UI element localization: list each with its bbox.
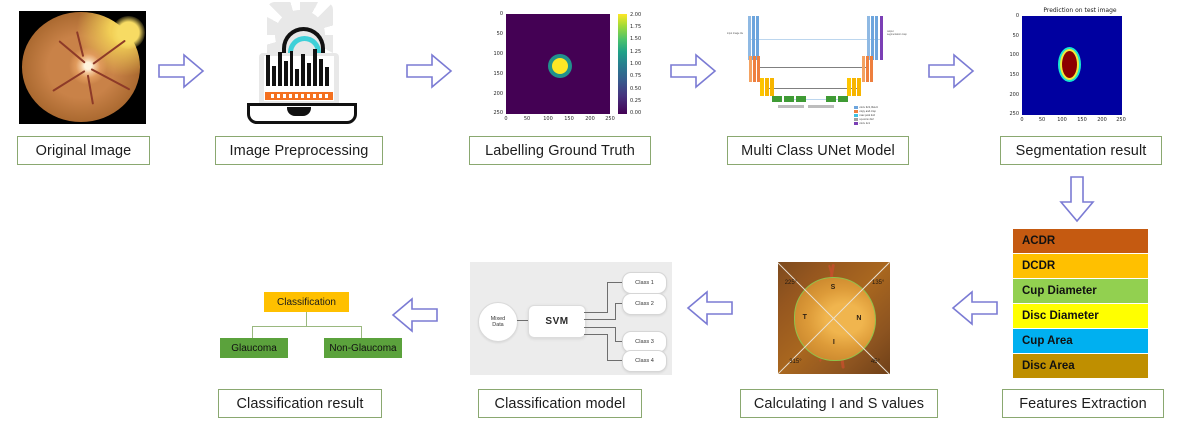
- connector: [615, 327, 616, 342]
- conv-block-green: [772, 96, 782, 102]
- tree-connector-branch: [252, 326, 253, 338]
- feature-item[interactable]: DCDR: [1013, 254, 1148, 278]
- caption-text: Labelling Ground Truth: [485, 143, 635, 159]
- unet-architecture-diagram: input image tile output segmentation map…: [722, 6, 910, 128]
- colorbar-tick: 0.25: [630, 98, 641, 104]
- feature-label: DCDR: [1022, 260, 1055, 272]
- arrow-right-3: [670, 54, 716, 88]
- y-tick-label: 150: [1006, 72, 1019, 78]
- arrow-right-1: [158, 54, 204, 88]
- tree-root-label: Classification: [277, 297, 336, 308]
- skip-connection: [759, 67, 867, 68]
- caption-text: Segmentation result: [1016, 143, 1147, 159]
- feature-label: Cup Diameter: [1022, 285, 1097, 297]
- svm-label: SVM: [545, 316, 568, 327]
- connector: [584, 319, 616, 320]
- feature-item[interactable]: Disc Diameter: [1013, 304, 1148, 328]
- segmentation-result-plot: Prediction on test image 0 50 100 150 20…: [1000, 5, 1160, 129]
- connector: [607, 282, 608, 313]
- colorbar-tick: 0.75: [630, 73, 641, 79]
- ground-truth-plot: 0 50 100 150 200 250 0 50 100 150 200 25…: [472, 6, 652, 128]
- bottleneck-label-bar: [778, 105, 804, 108]
- quadrant-label-i: I: [833, 339, 835, 346]
- connector: [584, 327, 616, 328]
- bottleneck-label-bar: [808, 105, 834, 108]
- arrow-down-1: [1060, 176, 1094, 222]
- x-tick-label: 50: [1035, 117, 1049, 123]
- y-tick-label: 150: [490, 71, 503, 77]
- chart-bar: [307, 63, 311, 85]
- tree-leaf-non-glaucoma[interactable]: Non-Glaucoma: [324, 338, 402, 358]
- caption-text: Features Extraction: [1019, 396, 1147, 412]
- skip-connection: [769, 88, 857, 89]
- colorbar-tick: 1.00: [630, 61, 641, 67]
- conv-block-orange: [749, 56, 752, 82]
- image-preprocessing-icon: [240, 8, 358, 126]
- y-tick-label: 200: [1006, 92, 1019, 98]
- feature-label: ACDR: [1022, 235, 1055, 247]
- caption-text: Classification result: [236, 396, 363, 412]
- caption-is-values: Calculating I and S values: [740, 389, 938, 418]
- conv-block-yellow: [760, 78, 764, 96]
- conv-block-green: [826, 96, 836, 102]
- x-tick-label: 100: [1055, 117, 1069, 123]
- class-label: Class 3: [635, 339, 654, 346]
- caption-segmentation-result: Segmentation result: [1000, 136, 1162, 165]
- cup-region: [552, 58, 568, 74]
- class-label: Class 1: [635, 280, 654, 287]
- strip-divider: [301, 94, 304, 99]
- input-note: input image tile: [727, 32, 747, 35]
- angle-label-45: 45°: [871, 359, 880, 365]
- strip-divider: [289, 94, 292, 99]
- conv-block-blue: [867, 16, 870, 60]
- x-tick-label: 200: [583, 116, 597, 122]
- angle-label-225: 225°: [785, 280, 797, 286]
- y-tick-label: 200: [490, 91, 503, 97]
- conv-block-green: [796, 96, 806, 102]
- class-label: Class 4: [635, 358, 654, 365]
- chart-bar: [325, 67, 329, 86]
- caption-image-preprocessing: Image Preprocessing: [215, 136, 383, 165]
- strip-divider: [325, 94, 328, 99]
- tree-leaf-label: Glaucoma: [231, 343, 277, 354]
- feature-item[interactable]: ACDR: [1013, 229, 1148, 253]
- feature-label: Disc Area: [1022, 360, 1075, 372]
- conv-block-blue: [752, 16, 755, 60]
- features-extraction-list: ACDR DCDR Cup Diameter Disc Diameter Cup…: [1013, 229, 1148, 379]
- conv-block-yellow: [857, 78, 861, 96]
- class-node: Class 4: [622, 350, 667, 372]
- colorbar-tick: 2.00: [630, 12, 641, 18]
- y-tick-label: 100: [1006, 52, 1019, 58]
- svm-node: SVM: [528, 305, 586, 338]
- x-tick-label: 150: [562, 116, 576, 122]
- y-tick-label: 100: [490, 51, 503, 57]
- tree-connector-horizontal: [252, 326, 362, 327]
- arrow-left-2: [687, 291, 733, 325]
- tree-leaf-glaucoma[interactable]: Glaucoma: [220, 338, 288, 358]
- strip-divider: [277, 94, 280, 99]
- caption-text: Classification model: [495, 396, 626, 412]
- unet-legend: conv 3x3, ReLU copy and crop max pool 2x…: [854, 106, 878, 126]
- chart-bar: [284, 61, 288, 86]
- colorbar-tick: 1.25: [630, 49, 641, 55]
- cup-region: [1062, 51, 1077, 78]
- tree-connector-vertical: [306, 312, 307, 327]
- connector: [584, 312, 608, 313]
- tree-leaf-label: Non-Glaucoma: [329, 343, 396, 354]
- connector: [607, 360, 622, 361]
- output-conv-block: [880, 16, 883, 60]
- conv-block-orange: [866, 56, 869, 82]
- strip-divider: [319, 94, 322, 99]
- colorbar-tick: 1.75: [630, 24, 641, 30]
- conv-block-orange: [870, 56, 873, 82]
- colorbar-tick: 0.50: [630, 86, 641, 92]
- conv-block-blue: [875, 16, 878, 60]
- conv-block-yellow: [852, 78, 856, 96]
- chart-bar: [319, 59, 323, 86]
- feature-item[interactable]: Disc Area: [1013, 354, 1148, 378]
- chart-bar: [290, 51, 294, 86]
- feature-item[interactable]: Cup Area: [1013, 329, 1148, 353]
- y-tick-label: 50: [490, 31, 503, 37]
- feature-item[interactable]: Cup Diameter: [1013, 279, 1148, 303]
- conv-block-orange: [753, 56, 756, 82]
- x-tick-label: 250: [603, 116, 617, 122]
- quadrant-label-t: T: [803, 314, 807, 321]
- mixed-data-node: Mixed Data: [478, 302, 518, 342]
- caption-ground-truth: Labelling Ground Truth: [469, 136, 651, 165]
- quadrant-label-n: N: [856, 315, 861, 322]
- chart-bar: [272, 66, 276, 86]
- x-tick-label: 200: [1095, 117, 1109, 123]
- angle-label-315: 315°: [789, 359, 801, 365]
- feature-label: Cup Area: [1022, 335, 1073, 347]
- caption-text: Image Preprocessing: [230, 143, 369, 159]
- y-tick-label: 0: [490, 11, 503, 17]
- caption-text: Calculating I and S values: [754, 396, 924, 412]
- classification-result-tree: Classification Glaucoma Non-Glaucoma: [208, 292, 398, 364]
- caption-unet-model: Multi Class UNet Model: [727, 136, 909, 165]
- mixed-data-label: Mixed Data: [491, 316, 505, 328]
- x-tick-label: 100: [541, 116, 555, 122]
- chart-bar: [278, 52, 282, 86]
- conv-block-green: [784, 96, 794, 102]
- plot-title: Prediction on test image: [1000, 7, 1160, 14]
- class-node: Class 1: [622, 272, 667, 294]
- skip-connection: [750, 39, 880, 40]
- chart-bar: [301, 54, 305, 86]
- caption-original-image: Original Image: [17, 136, 150, 165]
- disc-quadrants-image: S N I T 225° 135° 315° 45°: [778, 262, 890, 374]
- caption-features-extraction: Features Extraction: [1002, 389, 1164, 418]
- connector: [615, 303, 616, 320]
- svm-classification-model: Mixed Data SVM Class 1 Class 2 Class 3 C…: [470, 262, 672, 375]
- laptop-notch: [287, 107, 311, 115]
- caption-text: Original Image: [36, 143, 132, 159]
- legend-entry: conv 1x1: [854, 122, 878, 126]
- caption-text: Multi Class UNet Model: [741, 143, 895, 159]
- quadrant-divider-lines: [778, 262, 890, 374]
- caption-classification-model: Classification model: [478, 389, 642, 418]
- arrow-right-2: [406, 54, 452, 88]
- y-tick-label: 50: [1006, 33, 1019, 39]
- arrow-right-4: [928, 54, 974, 88]
- conv-block-yellow: [770, 78, 774, 96]
- conv-block-blue: [756, 16, 759, 60]
- strip-divider: [283, 94, 286, 99]
- class-label: Class 2: [635, 301, 654, 308]
- feature-label: Disc Diameter: [1022, 310, 1099, 322]
- x-tick-label: 0: [499, 116, 513, 122]
- angle-label-135: 135°: [872, 280, 884, 286]
- colorbar-tick: 0.00: [630, 110, 641, 116]
- conv-block-yellow: [765, 78, 769, 96]
- x-tick-label: 0: [1015, 117, 1029, 123]
- caption-classification-result: Classification result: [218, 389, 382, 418]
- tree-connector-branch: [361, 326, 362, 338]
- conv-block-green: [838, 96, 848, 102]
- arrow-left-1: [952, 291, 998, 325]
- x-tick-label: 50: [520, 116, 534, 122]
- connector: [607, 334, 608, 361]
- class-node: Class 2: [622, 293, 667, 315]
- quadrant-label-s: S: [831, 284, 836, 291]
- original-fundus-image: [19, 11, 146, 124]
- colorbar-tick: 1.50: [630, 36, 641, 42]
- x-tick-label: 150: [1075, 117, 1089, 123]
- tree-root-node[interactable]: Classification: [264, 292, 349, 312]
- connector: [607, 282, 622, 283]
- chart-bar: [266, 55, 270, 86]
- colorbar: [618, 14, 627, 114]
- y-tick-label: 0: [1006, 13, 1019, 19]
- strip-divider: [307, 94, 310, 99]
- arrow-left-3: [392, 298, 438, 332]
- progress-strip: [265, 92, 332, 100]
- chart-bar: [295, 69, 299, 86]
- conv-block-yellow: [847, 78, 851, 96]
- connector: [584, 334, 608, 335]
- conv-block-blue: [748, 16, 751, 60]
- output-note: output segmentation map: [887, 30, 908, 37]
- conv-block-blue: [871, 16, 874, 60]
- strip-divider: [271, 94, 274, 99]
- chart-bar: [313, 49, 317, 86]
- x-tick-label: 250: [1114, 117, 1128, 123]
- strip-divider: [313, 94, 316, 99]
- strip-divider: [295, 94, 298, 99]
- conv-block-orange: [862, 56, 865, 82]
